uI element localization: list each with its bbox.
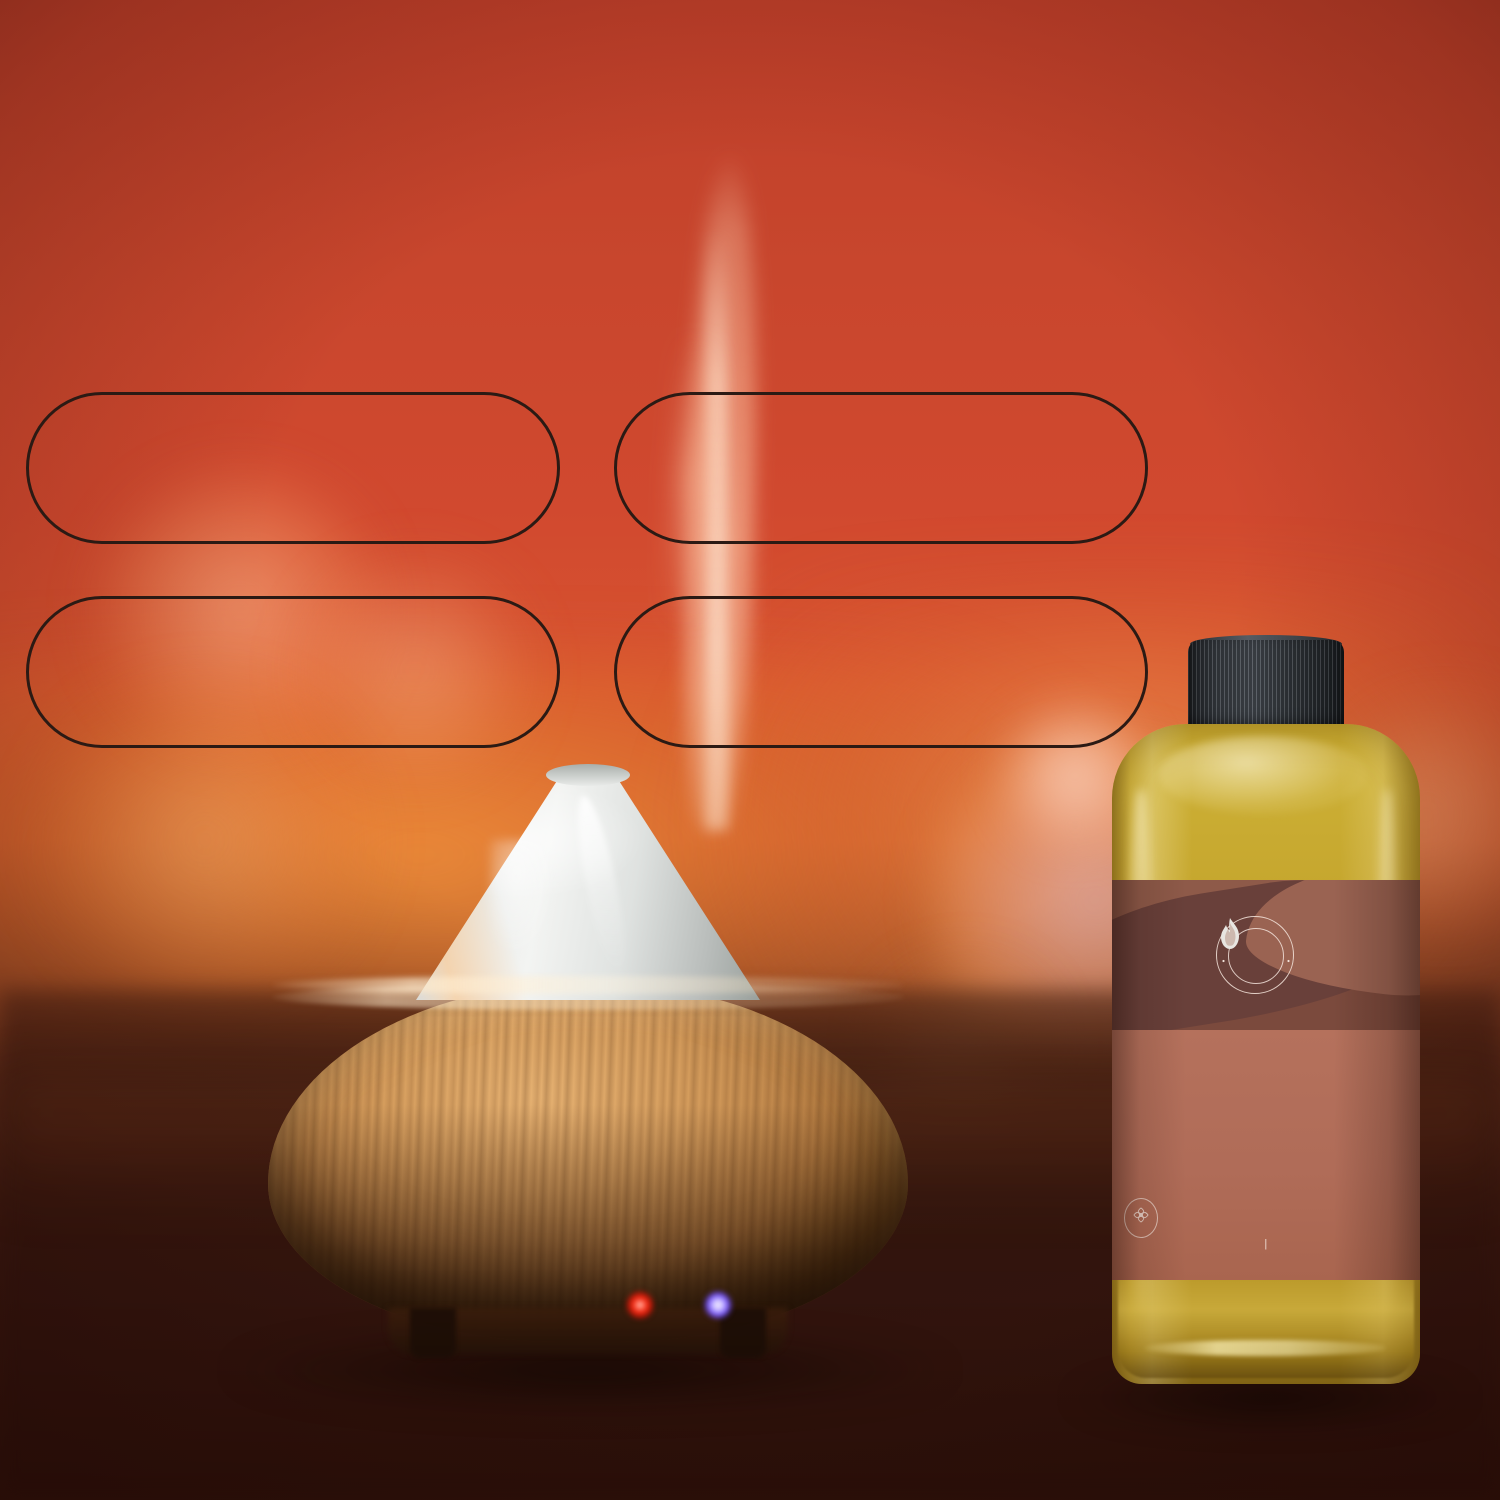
led-indicator-red [627,1292,653,1318]
bottle-cap [1188,640,1344,732]
product-label: | [1112,880,1420,1280]
diffuser-cone-gloss-soft [490,840,556,960]
feature-badge-natural-oils[interactable] [26,596,560,748]
feature-badge-list [26,392,1148,748]
page-title [0,96,1500,112]
diffuser-foot-left [410,1308,456,1358]
product-marketing-image: | [0,0,1500,1500]
led-indicator-blue [705,1292,731,1318]
diffuser-base-shading [268,982,908,1342]
diffuser-foot-right [720,1308,766,1358]
product-bottle: | [1096,640,1436,1400]
diffuser-mist-outlet [546,764,630,786]
feature-badge-fine-fragrances[interactable] [614,392,1148,544]
feature-badge-spray-room[interactable] [26,392,560,544]
label-curvature-shading [1112,880,1420,1280]
diffuser-device [268,770,908,1380]
bottle-base-ring [1144,1340,1386,1356]
diffuser-seam-highlight [272,976,904,994]
bottle-shoulder-highlight [1158,736,1368,814]
feature-badge-made-in-usa[interactable] [614,596,1148,748]
